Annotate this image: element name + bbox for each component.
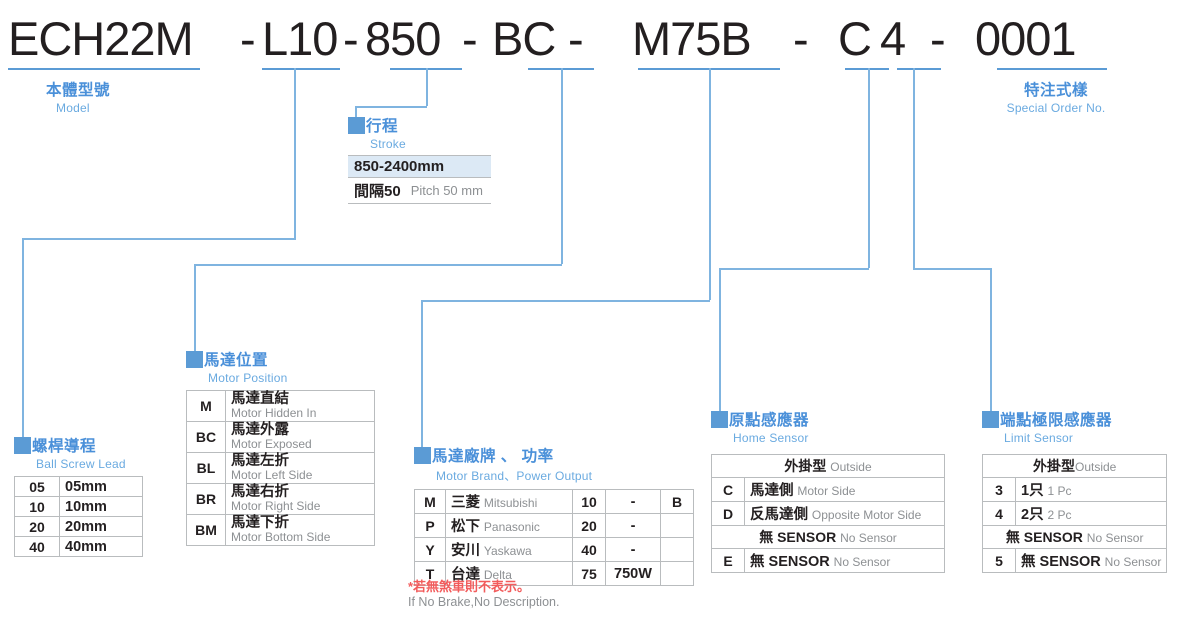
table-row: 間隔50 Pitch 50 mm: [348, 178, 491, 204]
connector-lead-h: [22, 238, 296, 240]
section-home-sensor-title: 原點感應器: [711, 408, 945, 430]
connector-limit-v1: [913, 68, 915, 268]
code-separator-5: -: [793, 10, 809, 68]
connector-mpos-h: [194, 264, 562, 266]
lead-code: 40: [15, 537, 60, 557]
power-code: 20: [573, 514, 606, 538]
code-segment-special-order: 0001: [975, 10, 1076, 68]
brand-cn: 安川: [451, 543, 480, 559]
brake-note-cn: *若無煞車則不表示。: [408, 579, 530, 594]
table-row: P 松下 Panasonic 20 -: [415, 514, 694, 538]
limit-sensor-code: 5: [983, 549, 1016, 573]
lead-code: 10: [15, 497, 60, 517]
section-motor-brand-title-en: Motor Brand、Power Output: [436, 467, 694, 484]
power-code: 10: [573, 490, 606, 514]
lead-label: 05mm: [65, 479, 107, 495]
table-row: C 馬達側 Motor Side: [712, 478, 945, 502]
motor-position-cn: 馬達外露: [231, 423, 369, 438]
section-home-sensor-title-cn: 原點感應器: [729, 412, 809, 429]
limit-sensor-cn: 1只: [1021, 483, 1044, 499]
underline-home-sensor: [845, 68, 889, 70]
section-limit-sensor-title: 端點極限感應器: [982, 408, 1167, 430]
section-limit-sensor-title-cn: 端點極限感應器: [1000, 412, 1112, 429]
code-segment-motor-position: BC: [492, 10, 555, 68]
home-sensor-header-cn: 外掛型: [784, 458, 826, 474]
limit-sensor-header-en: Outside: [1075, 460, 1116, 474]
connector-brand-v2: [421, 300, 423, 448]
limit-sensor-code: 3: [983, 478, 1016, 502]
brake-note: *若無煞車則不表示。 If No Brake,No Description.: [408, 580, 559, 609]
section-motor-position-title-cn: 馬達位置: [204, 352, 268, 369]
brand-en: Yaskawa: [484, 544, 532, 558]
section-motor-brand-title: 馬達廠牌 、 功率: [414, 444, 694, 466]
code-separator-1: -: [240, 10, 256, 68]
section-special-order: 特注式樣 Special Order No.: [1000, 78, 1112, 115]
underline-special-order: [997, 68, 1107, 70]
stroke-pitch-cn: 間隔50: [348, 178, 405, 204]
section-limit-sensor: 端點極限感應器 Limit Sensor 外掛型Outside 3 1只 1 P…: [982, 408, 1167, 573]
table-row: 10 10mm: [15, 497, 143, 517]
table-row: 4 2只 2 Pc: [983, 502, 1167, 526]
table-row: 外掛型 Outside: [712, 455, 945, 478]
diagram-canvas: ECH22M - L10 - 850 - BC - M75B - C 4 - 0…: [0, 0, 1180, 627]
section-ball-screw-lead-title-cn: 螺桿導程: [32, 438, 96, 455]
brand-code: M: [415, 490, 446, 514]
brake-code: [661, 514, 694, 538]
motor-position-en: Motor Right Side: [231, 500, 369, 513]
home-sensor-en: Opposite Motor Side: [812, 508, 921, 522]
home-sensor-cn: 馬達側: [750, 483, 794, 499]
connector-brand-v1: [709, 68, 711, 300]
brake-code: [661, 562, 694, 586]
section-marker-icon: [186, 351, 203, 368]
section-stroke-title-en: Stroke: [370, 137, 491, 151]
section-model-title-cn: 本體型號: [46, 82, 110, 99]
section-model: 本體型號 Model: [45, 78, 110, 115]
lead-label: 40mm: [65, 539, 107, 555]
section-marker-icon: [348, 117, 365, 134]
connector-mpos-v2: [194, 264, 196, 352]
motor-position-cn: 馬達下折: [231, 516, 369, 531]
motor-position-en: Motor Hidden In: [231, 407, 369, 420]
table-row: 05 05mm: [15, 477, 143, 497]
home-sensor-cn: 反馬達側: [750, 507, 808, 523]
limit-sensor-code: 4: [983, 502, 1016, 526]
section-model-title: 本體型號: [45, 78, 110, 100]
section-ball-screw-lead-title: 螺桿導程: [14, 434, 143, 456]
table-row: 5 無 SENSOR No Sensor: [983, 549, 1167, 573]
motor-position-code: BR: [187, 484, 226, 515]
section-home-sensor-title-en: Home Sensor: [733, 431, 945, 445]
limit-sensor-en: No Sensor: [1105, 555, 1162, 569]
power-code: 40: [573, 538, 606, 562]
lead-label: 20mm: [65, 519, 107, 535]
section-motor-position-title: 馬達位置: [186, 348, 375, 370]
lead-code: 20: [15, 517, 60, 537]
table-row: 3 1只 1 Pc: [983, 478, 1167, 502]
home-sensor-en: No Sensor: [834, 555, 891, 569]
table-row: 無 SENSOR No Sensor: [983, 526, 1167, 549]
section-motor-brand: 馬達廠牌 、 功率 Motor Brand、Power Output M 三菱 …: [414, 444, 694, 586]
brake-note-en: If No Brake,No Description.: [408, 595, 559, 609]
code-segment-home-sensor: C: [838, 10, 871, 68]
table-row: 20 20mm: [15, 517, 143, 537]
home-sensor-header-en: Outside: [830, 460, 871, 474]
limit-sensor-cn: 無 SENSOR: [1021, 554, 1101, 570]
section-motor-position: 馬達位置 Motor Position M 馬達直結Motor Hidden I…: [186, 348, 375, 546]
connector-brand-h: [421, 300, 710, 302]
limit-sensor-en: 1 Pc: [1047, 484, 1071, 498]
table-row: M 馬達直結Motor Hidden In: [187, 391, 375, 422]
limit-sensor-header-cn: 外掛型: [1033, 458, 1075, 474]
table-row: M 三菱 Mitsubishi 10 - B: [415, 490, 694, 514]
limit-sensor-table: 外掛型Outside 3 1只 1 Pc 4 2只 2 Pc 無 SENSOR …: [982, 454, 1167, 573]
motor-position-table: M 馬達直結Motor Hidden In BC 馬達外露Motor Expos…: [186, 390, 375, 546]
code-separator-4: -: [568, 10, 584, 68]
motor-position-cn: 馬達右折: [231, 485, 369, 500]
stroke-table: 850-2400mm 間隔50 Pitch 50 mm: [348, 155, 491, 204]
home-sensor-code: C: [712, 478, 745, 502]
connector-stroke-h: [355, 106, 427, 108]
connector-mpos-v1: [561, 68, 563, 264]
motor-position-code: BL: [187, 453, 226, 484]
motor-position-en: Motor Exposed: [231, 438, 369, 451]
brand-en: Panasonic: [484, 520, 540, 534]
section-marker-icon: [414, 447, 431, 464]
section-stroke: 行程 Stroke 850-2400mm 間隔50 Pitch 50 mm: [348, 114, 491, 204]
lead-code: 05: [15, 477, 60, 497]
section-limit-sensor-title-en: Limit Sensor: [1004, 431, 1167, 445]
table-row: 850-2400mm: [348, 156, 491, 178]
code-segment-stroke: 850: [365, 10, 440, 68]
table-row: BM 馬達下折Motor Bottom Side: [187, 515, 375, 546]
home-sensor-divider-en: No Sensor: [840, 531, 897, 545]
brand-en: Mitsubishi: [484, 496, 537, 510]
code-segment-model: ECH22M: [8, 10, 193, 68]
connector-home-v1: [868, 68, 870, 268]
underline-model: [8, 68, 200, 70]
section-home-sensor: 原點感應器 Home Sensor 外掛型 Outside C 馬達側 Moto…: [711, 408, 945, 573]
section-ball-screw-lead-title-en: Ball Screw Lead: [36, 457, 143, 471]
table-row: E 無 SENSOR No Sensor: [712, 549, 945, 573]
table-row: Y 安川 Yaskawa 40 -: [415, 538, 694, 562]
code-segment-motor-brand: M75B: [632, 10, 751, 68]
section-marker-icon: [982, 411, 999, 428]
section-model-title-en: Model: [56, 101, 110, 115]
brake-code: [661, 538, 694, 562]
section-marker-icon: [14, 437, 31, 454]
table-row: BR 馬達右折Motor Right Side: [187, 484, 375, 515]
section-stroke-title-cn: 行程: [366, 118, 398, 135]
home-sensor-divider-cn: 無 SENSOR: [759, 529, 836, 545]
underline-limit-sensor: [897, 68, 941, 70]
code-segment-limit-sensor: 4: [880, 10, 905, 68]
stroke-range-cell: 850-2400mm: [348, 156, 491, 178]
motor-position-code: BM: [187, 515, 226, 546]
brand-cn: 三菱: [451, 495, 480, 511]
table-row: D 反馬達側 Opposite Motor Side: [712, 502, 945, 526]
power-value: -: [631, 518, 636, 534]
motor-position-code: BC: [187, 422, 226, 453]
table-row: BC 馬達外露Motor Exposed: [187, 422, 375, 453]
home-sensor-table: 外掛型 Outside C 馬達側 Motor Side D 反馬達側 Oppo…: [711, 454, 945, 573]
table-row: 無 SENSOR No Sensor: [712, 526, 945, 549]
motor-position-cn: 馬達直結: [231, 392, 369, 407]
connector-home-v2: [719, 268, 721, 414]
section-special-order-title-cn: 特注式樣: [1024, 82, 1088, 99]
section-special-order-title-en: Special Order No.: [1000, 101, 1112, 115]
model-code-row: ECH22M - L10 - 850 - BC - M75B - C 4 - 0…: [0, 10, 1180, 70]
section-motor-brand-title-cn: 馬達廠牌 、 功率: [432, 448, 554, 465]
section-motor-position-title-en: Motor Position: [208, 371, 375, 385]
power-value: -: [631, 542, 636, 558]
home-sensor-code: D: [712, 502, 745, 526]
table-row: 40 40mm: [15, 537, 143, 557]
connector-lead-v1: [294, 68, 296, 238]
connector-limit-v2: [990, 268, 992, 414]
stroke-pitch-en: Pitch 50 mm: [405, 178, 491, 204]
section-special-order-title: 特注式樣: [1000, 78, 1112, 100]
code-segment-lead: L10: [262, 10, 337, 68]
connector-stroke-v1: [426, 68, 428, 106]
table-row: BL 馬達左折Motor Left Side: [187, 453, 375, 484]
power-value: 750W: [614, 566, 652, 582]
limit-sensor-cn: 2只: [1021, 507, 1044, 523]
motor-position-en: Motor Bottom Side: [231, 531, 369, 544]
motor-position-cn: 馬達左折: [231, 454, 369, 469]
home-sensor-cn: 無 SENSOR: [750, 554, 830, 570]
code-separator-6: -: [930, 10, 946, 68]
section-ball-screw-lead: 螺桿導程 Ball Screw Lead 05 05mm 10 10mm 20 …: [14, 434, 143, 557]
motor-position-code: M: [187, 391, 226, 422]
section-stroke-title: 行程: [348, 114, 491, 136]
connector-limit-h: [913, 268, 991, 270]
code-separator-2: -: [343, 10, 359, 68]
connector-lead-v2: [22, 238, 24, 443]
connector-home-h: [719, 268, 869, 270]
home-sensor-code: E: [712, 549, 745, 573]
motor-position-en: Motor Left Side: [231, 469, 369, 482]
brand-cn: 松下: [451, 519, 480, 535]
power-value: -: [631, 494, 636, 510]
section-marker-icon: [711, 411, 728, 428]
underline-lead: [262, 68, 340, 70]
limit-sensor-en: 2 Pc: [1047, 508, 1071, 522]
limit-sensor-divider-en: No Sensor: [1087, 531, 1144, 545]
brand-code: Y: [415, 538, 446, 562]
home-sensor-en: Motor Side: [797, 484, 855, 498]
lead-label: 10mm: [65, 499, 107, 515]
power-code: 75: [573, 562, 606, 586]
code-separator-3: -: [462, 10, 478, 68]
limit-sensor-divider-cn: 無 SENSOR: [1006, 529, 1083, 545]
motor-brand-table: M 三菱 Mitsubishi 10 - B P 松下 Panasonic 20…: [414, 489, 694, 586]
ball-screw-lead-table: 05 05mm 10 10mm 20 20mm 40 40mm: [14, 476, 143, 557]
brake-code: B: [661, 490, 694, 514]
brand-code: P: [415, 514, 446, 538]
table-row: 外掛型Outside: [983, 455, 1167, 478]
